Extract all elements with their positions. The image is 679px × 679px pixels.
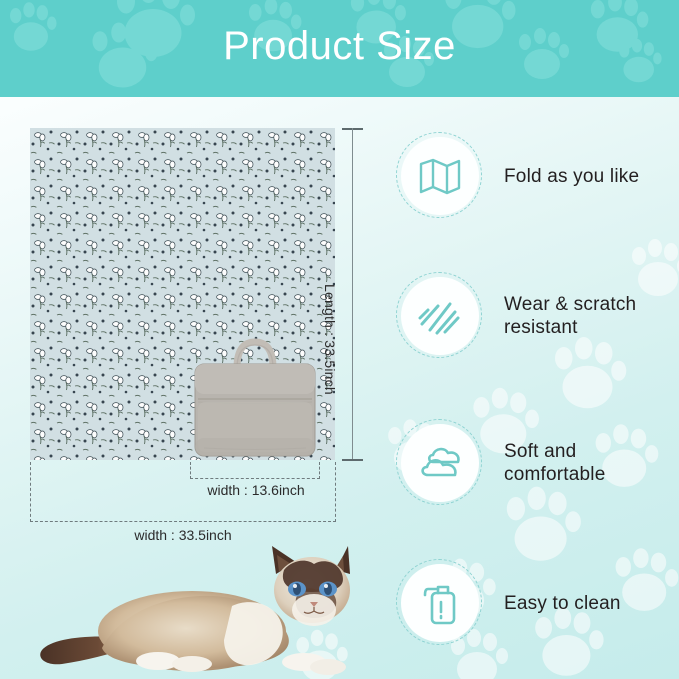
fold-map-icon [418, 156, 462, 196]
cat-photo [32, 528, 384, 679]
feature-label: Fold as you like [504, 165, 639, 188]
icon-disc [401, 564, 479, 642]
length-dimension-line [352, 128, 353, 460]
feature-item-clean[interactable]: Easy to clean [396, 555, 679, 651]
feature-icon-badge [396, 419, 484, 507]
icon-disc [401, 137, 479, 215]
icon-disc [401, 424, 479, 502]
feature-item-fold[interactable]: Fold as you like [396, 128, 679, 224]
feature-label: Soft and comfortable [504, 440, 679, 486]
page-title: Product Size [0, 0, 679, 97]
feature-label: Easy to clean [504, 592, 621, 615]
feature-label: Wear & scratch resistant [504, 293, 679, 339]
feature-item-scratch[interactable]: Wear & scratch resistant [396, 268, 679, 364]
feature-icon-badge [396, 132, 484, 220]
length-dimension-label: Length : 33.5inch [322, 284, 338, 395]
outer-width-dimension-bracket [30, 462, 336, 522]
product-size-infographic: Product Size [0, 0, 679, 679]
scratch-lines-icon [418, 294, 462, 338]
spray-bottle-icon [420, 580, 460, 626]
feature-item-soft[interactable]: Soft and comfortable [396, 415, 679, 511]
cloud-icon [417, 445, 463, 481]
length-dimension-cap-bottom [342, 459, 363, 461]
laptop-sleeve-product-image [190, 338, 320, 460]
feature-list: Fold as you like We [396, 128, 679, 668]
feature-icon-badge [396, 559, 484, 647]
header-banner: Product Size [0, 0, 679, 97]
feature-icon-badge [396, 272, 484, 360]
icon-disc [401, 277, 479, 355]
